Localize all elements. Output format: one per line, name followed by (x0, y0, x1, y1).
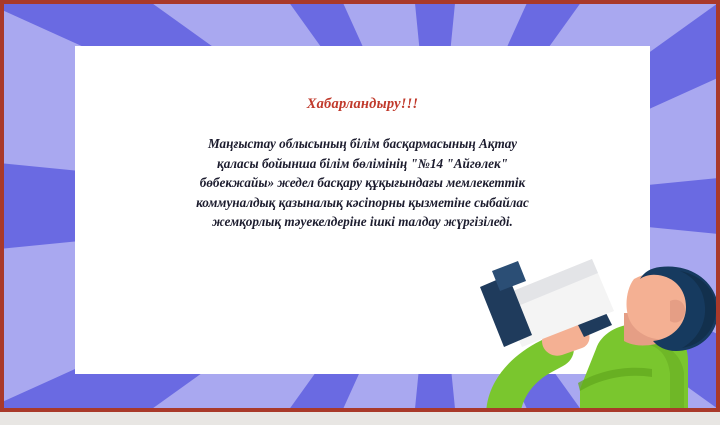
announcement-title: Хабарландыру!!! (75, 96, 650, 113)
announcement-body-line: коммуналдық қазыналық кәсіпорны қызметін… (97, 193, 628, 213)
announcement-body: Маңғыстау облысының білім басқармасының … (97, 134, 628, 232)
announcement-body-line: Маңғыстау облысының білім басқармасының … (97, 134, 628, 154)
announcement-body-line: қаласы бойынша білім бөлімінің "№14 "Айг… (97, 154, 628, 174)
announcement-card: Хабарландыру!!! Маңғыстау облысының білі… (75, 46, 650, 374)
poster-frame: Хабарландыру!!! Маңғыстау облысының білі… (0, 0, 720, 412)
announcement-body-line: бөбекжайы» жедел басқару құқығындағы мем… (97, 173, 628, 193)
poster-screen: Хабарландыру!!! Маңғыстау облысының білі… (0, 0, 720, 425)
announcement-body-line: жемқорлық тәуекелдеріне ішкі талдау жүрг… (97, 212, 628, 232)
page-bottom-strip (0, 412, 720, 425)
